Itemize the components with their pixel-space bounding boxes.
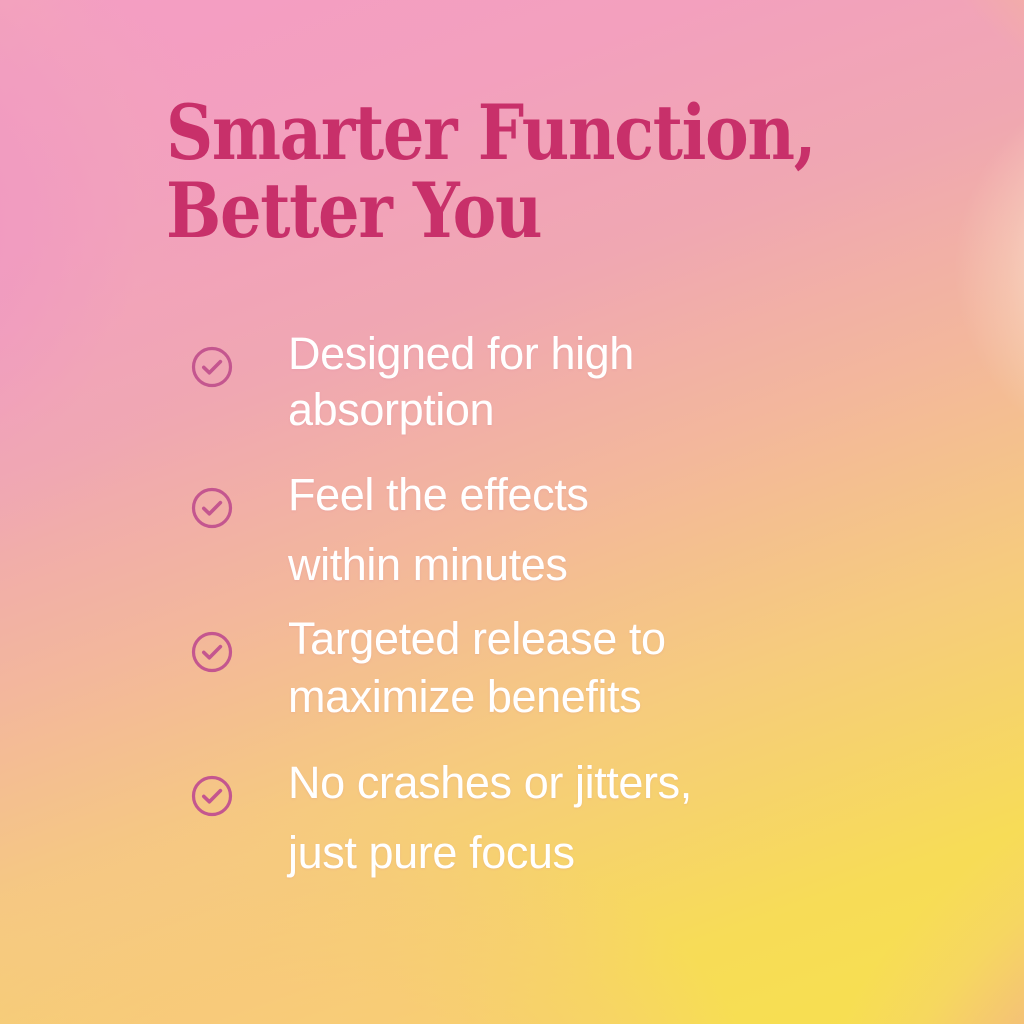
list-item-label: No crashes or jitters, just pure focus (288, 748, 692, 888)
list-item-label: Feel the effects within minutes (288, 460, 588, 600)
promo-poster: Smarter Function, Better You Designed fo… (0, 0, 1024, 1024)
poster-content: Smarter Function, Better You Designed fo… (0, 0, 1024, 1024)
benefits-list: Designed for high absorption Feel the ef… (176, 326, 966, 888)
check-circle-icon (190, 486, 234, 530)
list-item: No crashes or jitters, just pure focus (176, 748, 966, 888)
check-circle-icon (190, 345, 234, 389)
page-title: Smarter Function, Better You (166, 94, 837, 250)
list-item: Targeted release to maximize benefits (176, 610, 966, 726)
list-item-label: Designed for high absorption (288, 326, 634, 438)
list-item-label: Targeted release to maximize benefits (288, 610, 666, 726)
check-circle-icon (190, 774, 234, 818)
list-item: Designed for high absorption (176, 326, 966, 438)
check-circle-icon (190, 630, 234, 674)
list-item: Feel the effects within minutes (176, 460, 966, 600)
